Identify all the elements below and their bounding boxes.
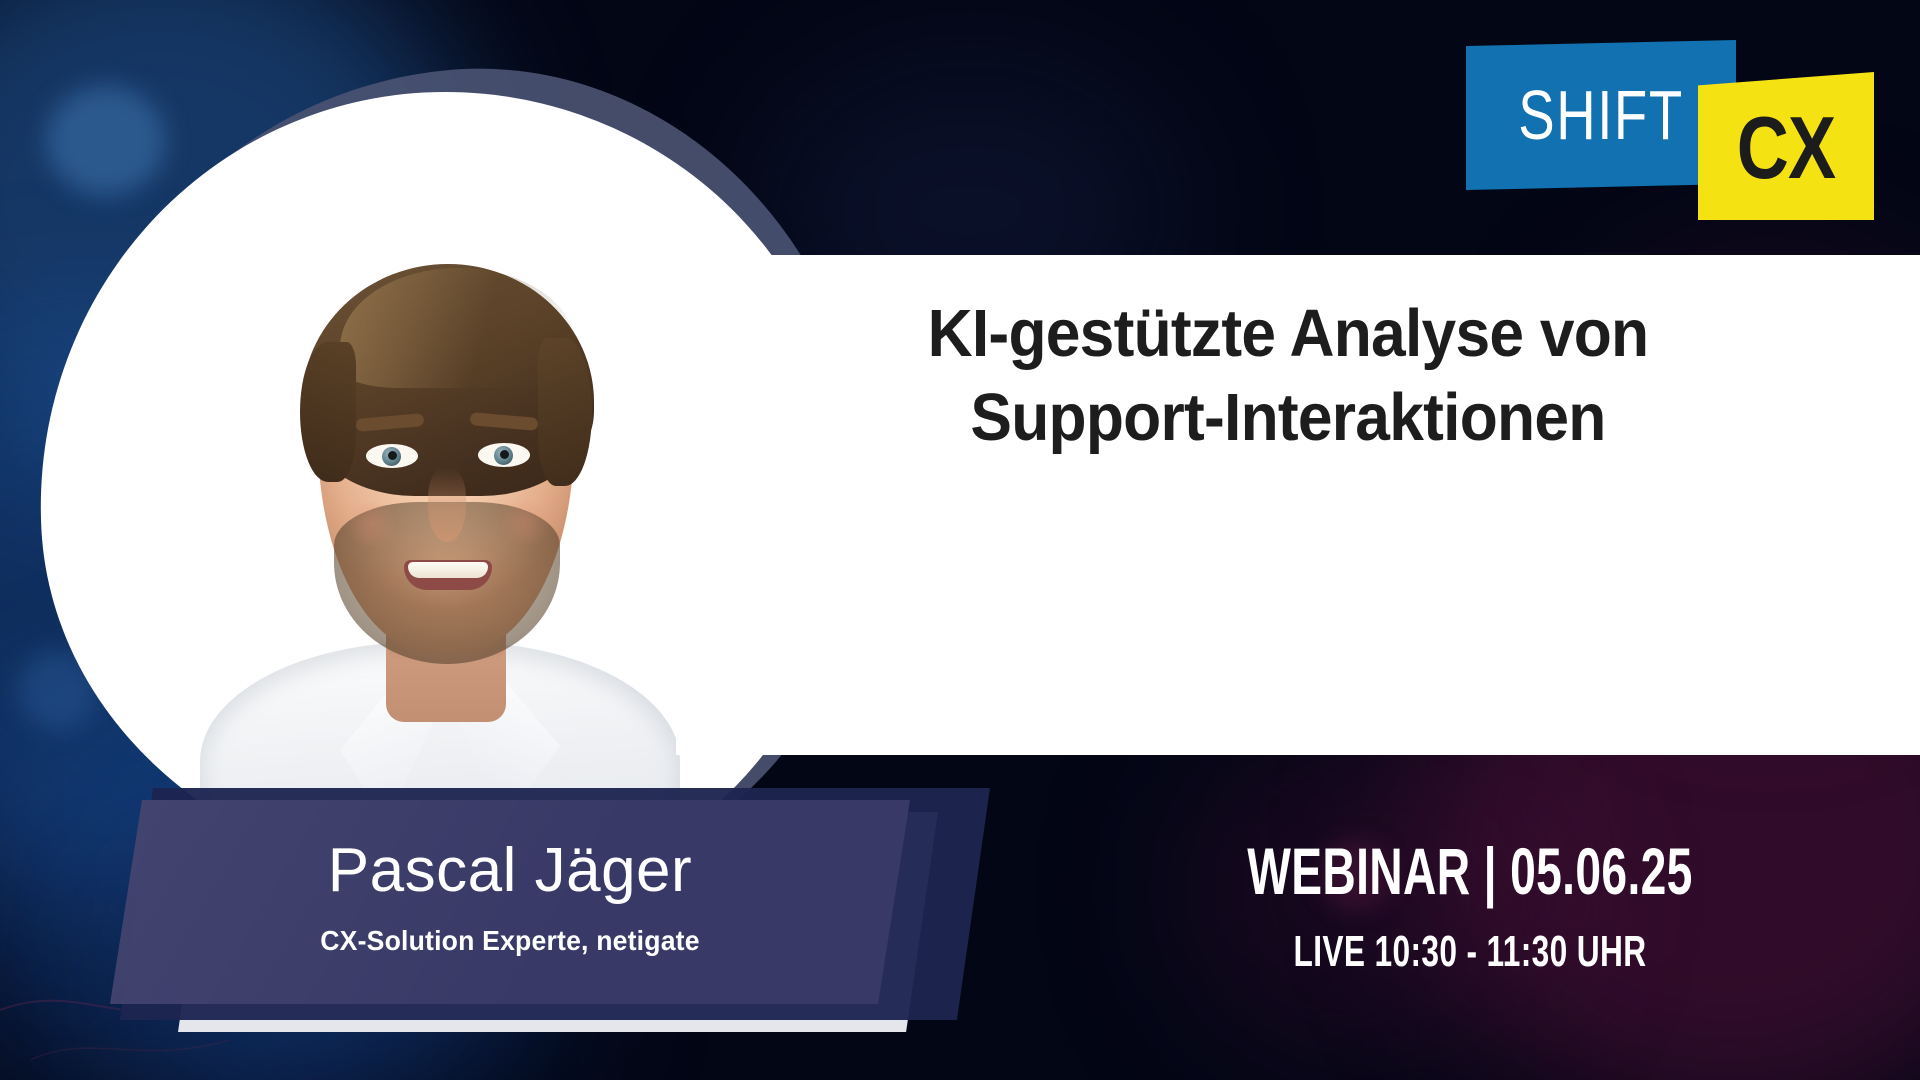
eye-right: [478, 443, 530, 467]
shift-cx-logo[interactable]: SHIFT CX: [1466, 30, 1902, 200]
event-time: LIVE 10:30 - 11:30 UHR: [1175, 930, 1765, 974]
eye-left: [366, 444, 418, 468]
speaker-name: Pascal Jäger: [110, 840, 910, 902]
mouth: [404, 560, 492, 590]
hair-side-right: [538, 338, 592, 486]
logo-cx-text: CX: [1714, 76, 1858, 220]
cheek-left: [342, 502, 400, 546]
headline-line-2: Support-Interaktionen: [732, 376, 1844, 460]
logo-shift-text: SHIFT: [1496, 40, 1707, 190]
pupil-left: [388, 451, 397, 460]
cheek-right: [496, 500, 554, 544]
speaker-role: CX-Solution Experte, netigate: [130, 925, 890, 957]
webinar-banner: KI-gestützte Analyse von Support-Interak…: [0, 0, 1920, 1080]
pupil-right: [500, 450, 509, 459]
hair-side-left: [300, 342, 356, 482]
teeth: [408, 562, 488, 578]
nose: [428, 468, 466, 542]
page-title: KI-gestützte Analyse von Support-Interak…: [732, 292, 1844, 461]
headline-line-1: KI-gestützte Analyse von: [732, 292, 1844, 376]
event-title: WEBINAR | 05.06.25: [1183, 838, 1757, 904]
